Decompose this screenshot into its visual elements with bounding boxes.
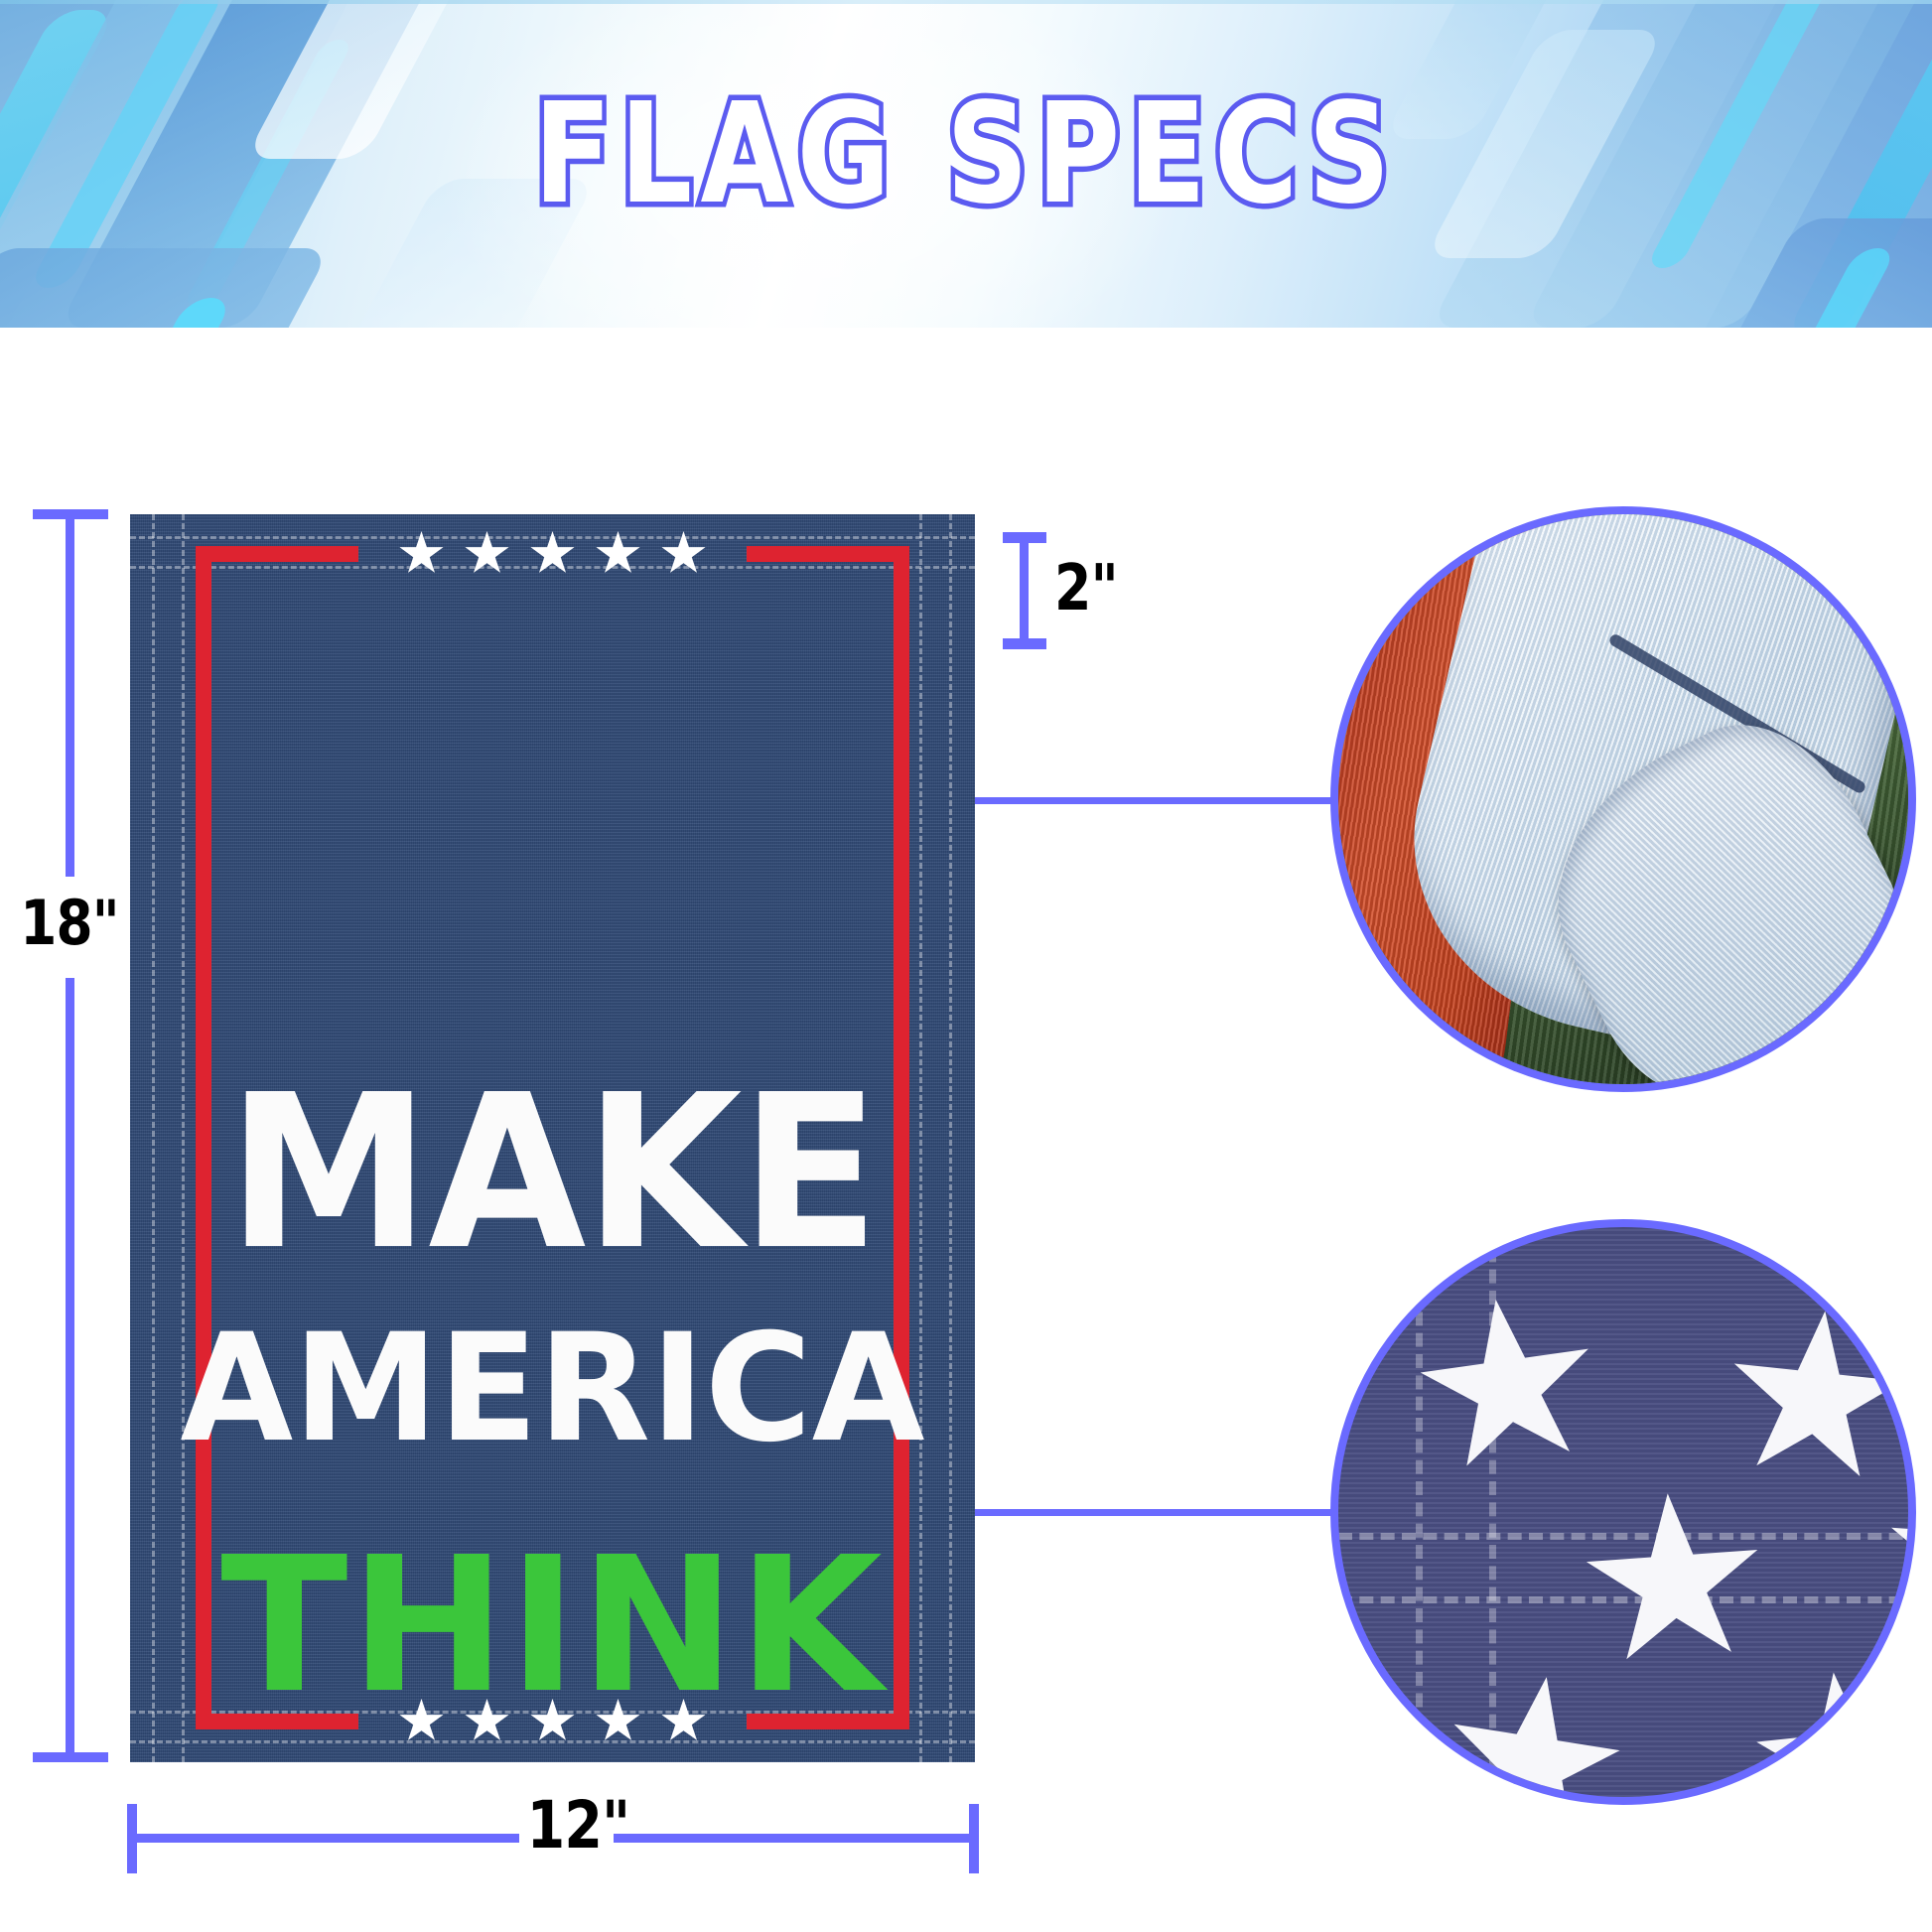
width-dimension-cap-right	[969, 1804, 979, 1873]
flag-border-top-right	[747, 546, 909, 562]
stitch-grid-vertical-1	[1416, 1227, 1423, 1805]
flag-stars-top	[358, 531, 747, 577]
hem-dimension-label: 2"	[1054, 552, 1118, 625]
width-dimension-line-right	[614, 1834, 975, 1843]
callout-fabric-weave	[1330, 506, 1916, 1092]
stitch-grid-horizontal-2	[1338, 1596, 1916, 1603]
hem-dimension-line	[1020, 536, 1029, 645]
height-dimension-cap-bottom	[33, 1752, 108, 1762]
star-icon	[596, 531, 641, 577]
leader-line-stars-callout	[975, 1509, 1332, 1516]
flag-text-america: AMERICA	[139, 1320, 967, 1457]
height-dimension-label: 18"	[10, 887, 129, 959]
flag-border-top-left	[196, 546, 358, 562]
star-icon	[465, 531, 510, 577]
width-dimension-label: 12"	[527, 1787, 607, 1863]
hem-dimension-cap-bottom	[1003, 638, 1046, 649]
callout-stars-stitching	[1330, 1219, 1916, 1805]
star-icon	[661, 531, 707, 577]
star-icon	[1719, 1302, 1913, 1496]
header-banner: FLAG SPECS	[0, 0, 1932, 328]
flag-text-make: MAKE	[147, 1076, 958, 1272]
height-dimension-line-top	[66, 509, 74, 877]
page-title: FLAG SPECS	[174, 85, 1758, 224]
star-icon	[1881, 1472, 1916, 1642]
leader-line-fabric-callout	[975, 797, 1332, 804]
width-dimension-line-left	[132, 1834, 519, 1843]
star-icon	[1579, 1487, 1769, 1678]
height-dimension-line-bottom	[66, 978, 74, 1762]
flag-product-image: MAKE AMERICA THINK AGAIN	[130, 514, 975, 1762]
banner-top-edge	[0, 0, 1932, 4]
star-icon	[1746, 1663, 1916, 1805]
star-icon	[1433, 1663, 1632, 1805]
star-icon	[399, 531, 445, 577]
star-icon	[1408, 1287, 1607, 1486]
star-icon	[530, 531, 576, 577]
stitch-grid-horizontal-1	[1338, 1533, 1916, 1540]
flag-text-think: THINK	[130, 1541, 975, 1713]
